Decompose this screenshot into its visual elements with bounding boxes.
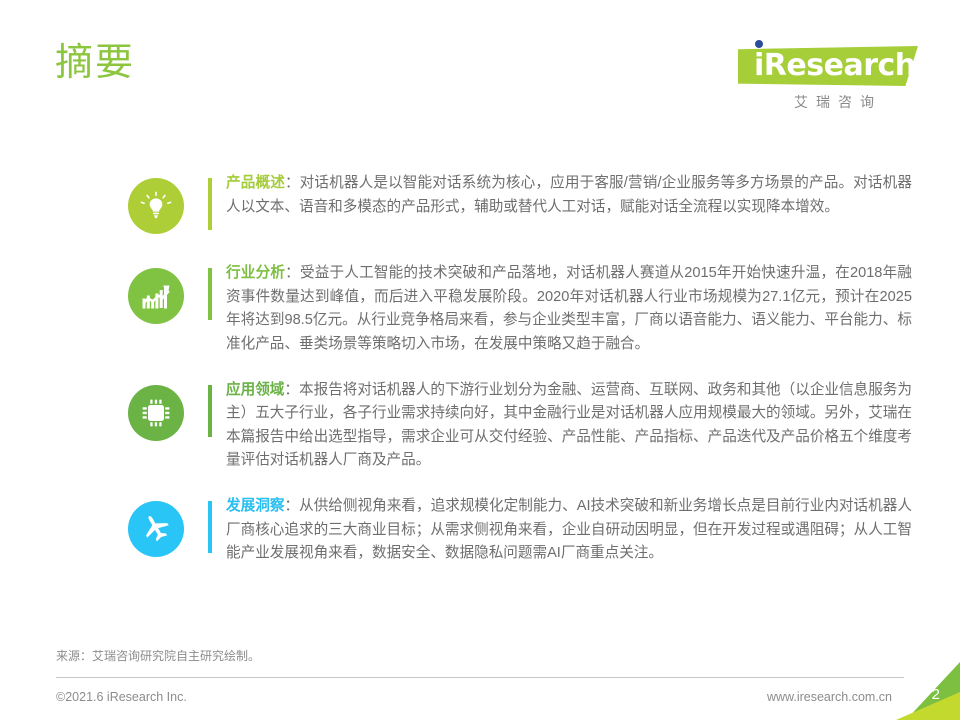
corner-decoration — [888, 648, 960, 720]
logo-i-dot — [755, 40, 763, 48]
logo-chinese-name: 艾瑞咨询 — [758, 92, 918, 112]
bar-chart-growth-icon — [128, 268, 184, 324]
accent-bar — [208, 268, 212, 320]
accent-bar — [208, 385, 212, 437]
summary-block-separator: ： — [284, 498, 299, 514]
summary-block-body: 对话机器人是以智能对话系统为核心，应用于客服/营销/企业服务等多方场景的产品。对… — [226, 175, 912, 215]
summary-block-heading: 产品概述 — [226, 175, 285, 191]
summary-block-product-overview: 产品概述：对话机器人是以智能对话系统为核心，应用于客服/营销/企业服务等多方场景… — [0, 172, 960, 240]
summary-block-text: 发展洞察：从供给侧视角来看，追求规模化定制能力、AI技术突破和新业务增长点是目前… — [226, 495, 912, 566]
summary-block-text: 应用领域：本报告将对话机器人的下游行业划分为金融、运营商、互联网、政务和其他（以… — [226, 379, 912, 474]
logo-wordmark: iResearch — [754, 46, 918, 86]
summary-block-heading: 应用领域 — [226, 382, 284, 398]
source-note: 来源：艾瑞咨询研究院自主研究绘制。 — [56, 647, 260, 664]
summary-block-body: 本报告将对话机器人的下游行业划分为金融、运营商、互联网、政务和其他（以企业信息服… — [226, 382, 912, 469]
summary-block-text: 产品概述：对话机器人是以智能对话系统为核心，应用于客服/营销/企业服务等多方场景… — [226, 172, 912, 219]
logo-wordmark-text: Research — [764, 48, 916, 83]
summary-block-text: 行业分析：受益于人工智能的技术突破和产品落地，对话机器人赛道从2015年开始快速… — [226, 262, 912, 357]
summary-block-separator: ： — [285, 175, 300, 191]
copyright-text: ©2021.6 iResearch Inc. — [56, 690, 187, 704]
page-title: 摘要 — [55, 44, 135, 82]
airplane-icon — [128, 501, 184, 557]
summary-block-separator: ： — [285, 265, 300, 281]
summary-block-heading: 行业分析 — [226, 265, 285, 281]
summary-block-industry-analysis: 行业分析：受益于人工智能的技术突破和产品落地，对话机器人赛道从2015年开始快速… — [0, 262, 960, 357]
logo-mark: iResearch — [738, 40, 918, 88]
iresearch-logo: iResearch 艾瑞咨询 — [738, 40, 918, 120]
accent-bar — [208, 501, 212, 553]
footer-divider — [56, 677, 904, 678]
summary-blocks: 产品概述：对话机器人是以智能对话系统为核心，应用于客服/营销/企业服务等多方场景… — [0, 172, 960, 588]
summary-block-body: 从供给侧视角来看，追求规模化定制能力、AI技术突破和新业务增长点是目前行业内对话… — [226, 498, 912, 561]
summary-block-heading: 发展洞察 — [226, 498, 284, 514]
accent-bar — [208, 178, 212, 230]
page-number: 2 — [932, 686, 940, 703]
lightbulb-icon — [128, 178, 184, 234]
summary-block-application-fields: 应用领域：本报告将对话机器人的下游行业划分为金融、运营商、互联网、政务和其他（以… — [0, 379, 960, 474]
cpu-chip-icon — [128, 385, 184, 441]
summary-block-separator: ： — [284, 382, 299, 398]
website-url: www.iresearch.com.cn — [767, 690, 892, 704]
summary-block-development-insight: 发展洞察：从供给侧视角来看，追求规模化定制能力、AI技术突破和新业务增长点是目前… — [0, 495, 960, 566]
summary-block-body: 受益于人工智能的技术突破和产品落地，对话机器人赛道从2015年开始快速升温，在2… — [226, 265, 912, 352]
